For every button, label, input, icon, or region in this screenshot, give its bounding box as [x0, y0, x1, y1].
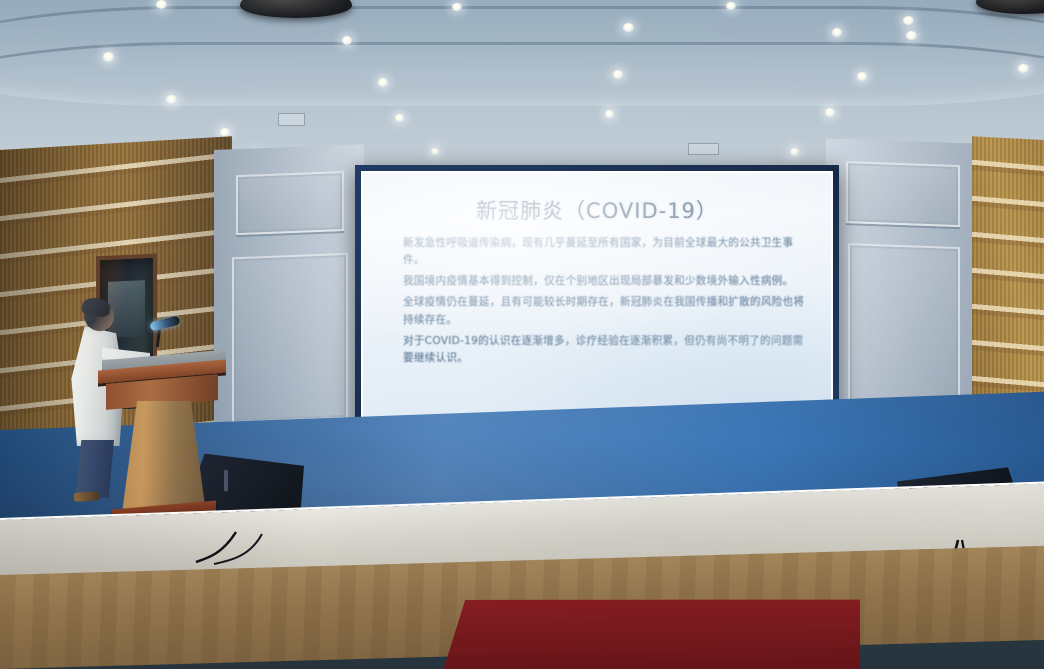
cable-left	[196, 532, 236, 562]
ceiling-light	[1018, 64, 1029, 73]
wall-moulding	[846, 161, 960, 227]
ceiling-light	[103, 52, 114, 62]
ceiling-light	[452, 3, 462, 11]
ceiling-light	[342, 36, 352, 45]
projection-screen-frame: 新冠肺炎（COVID-19） 新发急性呼吸道传染病，现有几乎蔓延至所有国家，为目…	[355, 165, 839, 433]
wall-moulding	[848, 243, 960, 416]
ceiling-light	[613, 70, 623, 79]
ceiling-light	[832, 28, 842, 37]
list-item: 我国境内疫情基本得到控制，仅在个别地区出现局部暴发和少数境外输入性病例。	[403, 273, 809, 290]
presentation-hall-scene: 新冠肺炎（COVID-19） 新发急性呼吸道传染病，现有几乎蔓延至所有国家，为目…	[0, 0, 1044, 669]
wall-moulding	[236, 171, 344, 235]
ceiling-light	[378, 78, 388, 87]
list-item: 新发急性呼吸道传染病，现有几乎蔓延至所有国家，为目前全球最大的公共卫生事件。	[403, 235, 809, 269]
ceiling-light	[605, 110, 614, 118]
ceiling-light	[857, 72, 867, 81]
list-item: 全球疫情仍在蔓延，且有可能较长时期存在，新冠肺炎在我国传播和扩散的风险也将持续存…	[403, 294, 809, 328]
ceiling-light	[726, 2, 736, 10]
ceiling-light	[156, 0, 167, 9]
ceiling-light	[903, 16, 914, 25]
projection-screen: 新冠肺炎（COVID-19） 新发急性呼吸道传染病，现有几乎蔓延至所有国家，为目…	[361, 171, 833, 427]
slide-title: 新冠肺炎（COVID-19）	[363, 195, 831, 225]
ceiling-vent	[278, 113, 305, 126]
slide-bullet-list: 新发急性呼吸道传染病，现有几乎蔓延至所有国家，为目前全球最大的公共卫生事件。 我…	[389, 235, 809, 371]
ceiling-light	[790, 148, 799, 156]
wall-moulding	[232, 253, 348, 423]
ceiling-light	[906, 31, 917, 40]
red-aisle-carpet	[440, 592, 860, 669]
ceiling-light	[825, 108, 835, 117]
microphone	[148, 313, 188, 347]
ceiling-light	[431, 148, 439, 155]
ceiling-light	[395, 114, 404, 122]
ceiling-light	[623, 23, 634, 32]
ceiling-light	[166, 95, 177, 104]
list-item: 对于COVID-19的认识在逐渐增多，诊疗经验在逐渐积累，但仍有尚不明了的问题需…	[403, 333, 809, 367]
ceiling-vent	[688, 143, 719, 155]
presenter-hair	[81, 296, 111, 317]
